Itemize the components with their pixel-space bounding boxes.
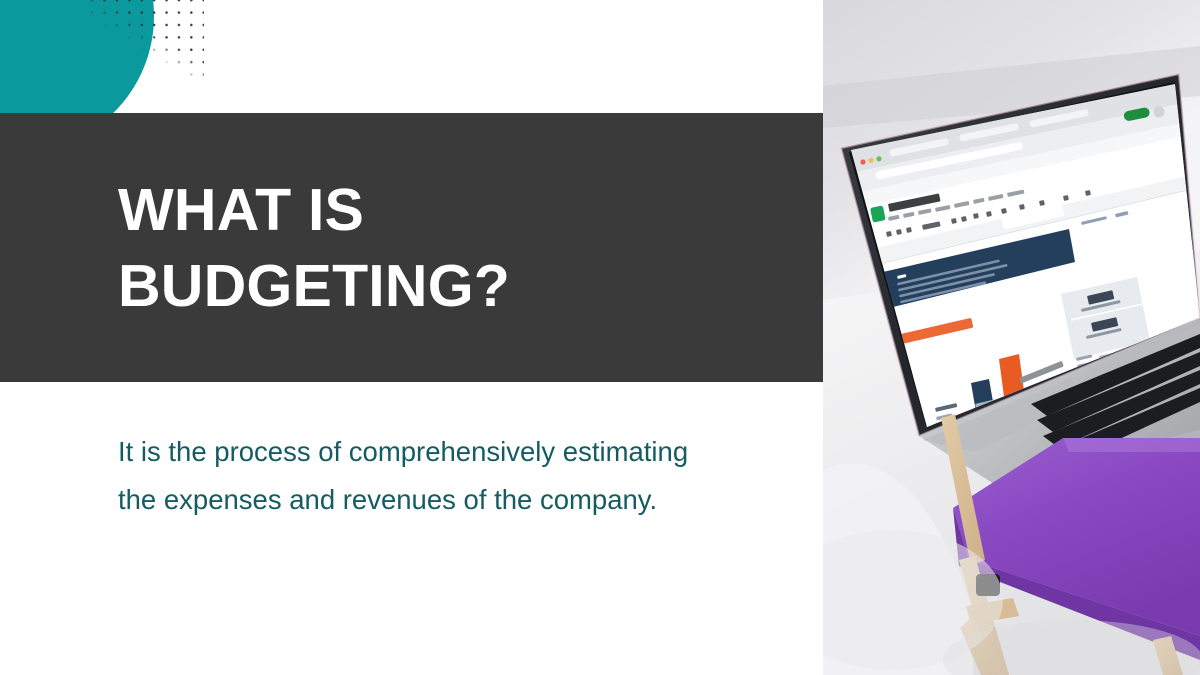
left-content-panel: WHAT IS BUDGETING? It is the process of … <box>0 0 823 675</box>
avatar[interactable] <box>1154 107 1165 118</box>
lap-desk-highlight <box>1063 438 1200 452</box>
body-text-block: It is the process of comprehensively est… <box>118 428 718 524</box>
page-title-line-2: BUDGETING? <box>118 248 758 324</box>
body-paragraph: It is the process of comprehensively est… <box>118 428 718 524</box>
dot-grid-pattern-decoration <box>86 0 204 76</box>
laptop-photo <box>823 0 1200 675</box>
page-title-line-1: WHAT IS <box>118 172 758 248</box>
page-title: WHAT IS BUDGETING? <box>118 172 758 324</box>
laptop-photo-illustration <box>823 0 1200 675</box>
slide-canvas: WHAT IS BUDGETING? It is the process of … <box>0 0 1200 675</box>
